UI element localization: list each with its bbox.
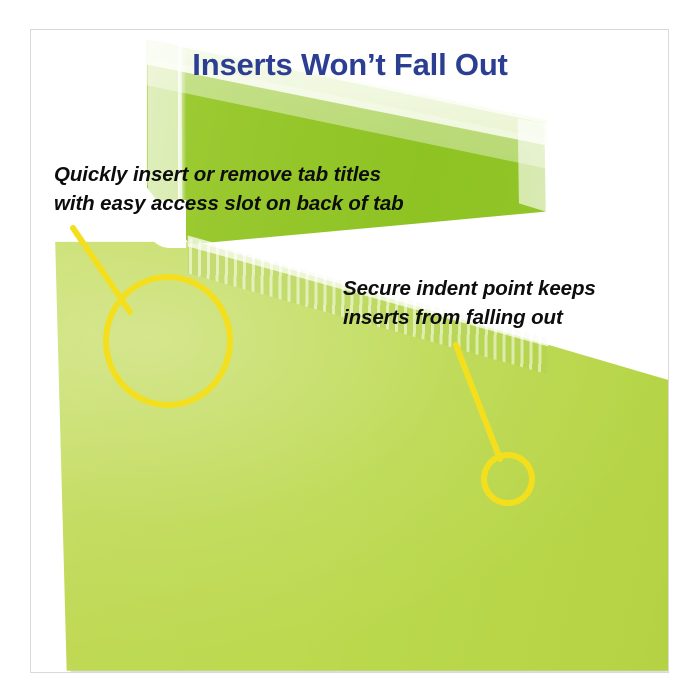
page-title: Inserts Won’t Fall Out — [0, 48, 700, 82]
callout-label-access-slot: Quickly insert or remove tab titles with… — [54, 160, 404, 218]
product-photo — [31, 30, 668, 672]
photo-frame — [30, 29, 669, 673]
callout-label-indent-point: Secure indent point keeps inserts from f… — [343, 274, 596, 332]
product-feature-image: Inserts Won’t Fall Out Quickly insert or… — [0, 0, 700, 700]
